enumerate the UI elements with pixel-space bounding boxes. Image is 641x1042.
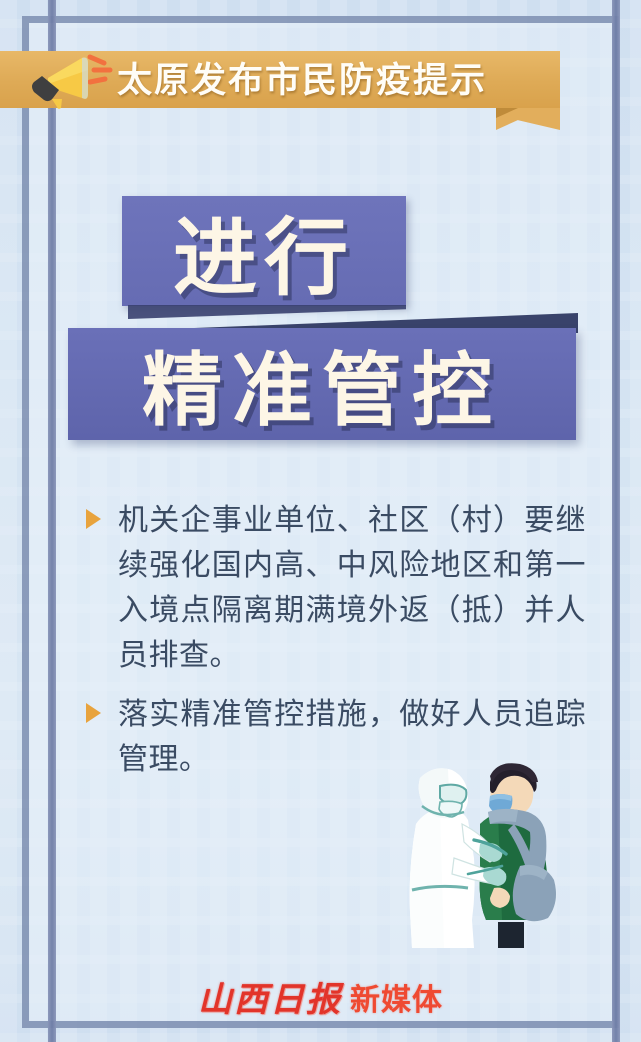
title-line-2: 精准管控: [68, 328, 576, 440]
poster-root: 太原发布市民防疫提示 进行 精准管控 机关企事业单位、社区（村）要继续强化国内高…: [0, 0, 641, 1042]
bullet-text: 机关企事业单位、社区（村）要继续强化国内高、中风险地区和第一入境点隔离期满境外返…: [118, 498, 586, 678]
triangle-right-icon: [86, 509, 101, 529]
left-accent-stripe: [48, 0, 56, 1042]
banner-title: 太原发布市民防疫提示: [117, 58, 547, 104]
title-block-primary: 进行: [122, 196, 406, 306]
bullet-list: 机关企事业单位、社区（村）要继续强化国内高、中风险地区和第一入境点隔离期满境外返…: [86, 498, 586, 796]
footer-logo: 山西日报新媒体: [0, 972, 641, 1021]
title-line-1: 进行: [122, 196, 406, 306]
brand-name: 山西日报: [198, 972, 342, 1021]
health-worker-and-resident-illustration: [402, 762, 622, 952]
brand-suffix: 新媒体: [350, 975, 443, 1019]
triangle-right-icon: [86, 703, 101, 723]
list-item: 机关企事业单位、社区（村）要继续强化国内高、中风险地区和第一入境点隔离期满境外返…: [86, 498, 586, 678]
megaphone-icon: [28, 54, 120, 110]
title-block-secondary: 精准管控: [68, 328, 576, 440]
